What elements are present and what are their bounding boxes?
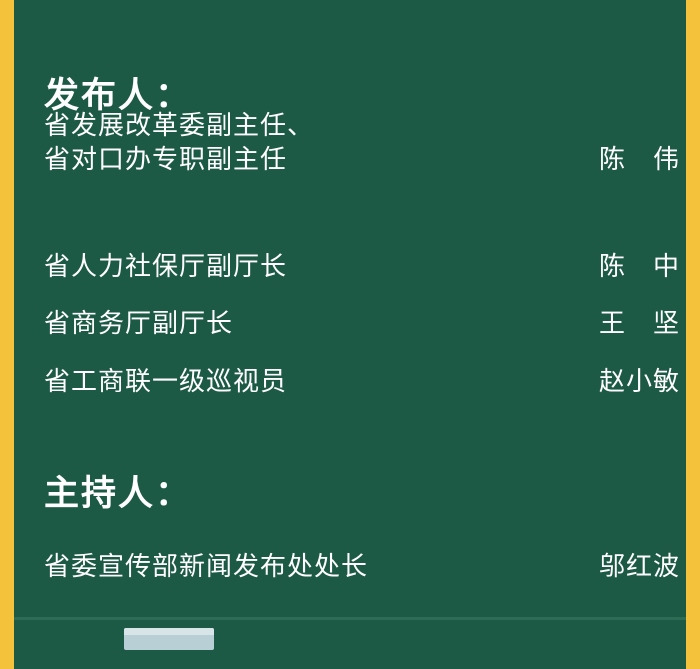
publisher-row-1: 省发展改革委副主任、 省对口办专职副主任 陈 伟 [44,138,680,180]
chalkboard-lower-edge [14,617,686,669]
chalkboard-content: 发布人： 省发展改革委副主任、 省对口办专职副主任 陈 伟 省人力社保厅副厅长 … [14,0,686,617]
poster-canvas: 发布人： 省发展改革委副主任、 省对口办专职副主任 陈 伟 省人力社保厅副厅长 … [0,0,700,669]
host-name: 邬红波 [599,545,680,587]
host-row-1: 省委宣传部新闻发布处处长 邬红波 [44,545,680,587]
publisher-name: 王 坚 [599,302,680,344]
chalkboard: 发布人： 省发展改革委副主任、 省对口办专职副主任 陈 伟 省人力社保厅副厅长 … [14,0,686,617]
publisher-name: 陈 伟 [599,138,680,180]
publisher-role: 省人力社保厅副厅长 [44,245,287,287]
host-role: 省委宣传部新闻发布处处长 [44,545,368,587]
chalk-tray-line [14,617,686,620]
host-section-title: 主持人： [44,465,192,516]
publisher-name: 赵小敏 [599,360,680,402]
publisher-name: 陈 中 [599,245,680,287]
publisher-row-2: 省人力社保厅副厅长 陈 中 [44,245,680,287]
eraser-top-icon [124,628,214,635]
publisher-role: 省工商联一级巡视员 [44,360,287,402]
publisher-role-line2: 省对口办专职副主任 [44,138,287,180]
publisher-role: 省商务厅副厅长 [44,302,233,344]
publisher-row-3: 省商务厅副厅长 王 坚 [44,302,680,344]
publisher-row-4: 省工商联一级巡视员 赵小敏 [44,360,680,402]
